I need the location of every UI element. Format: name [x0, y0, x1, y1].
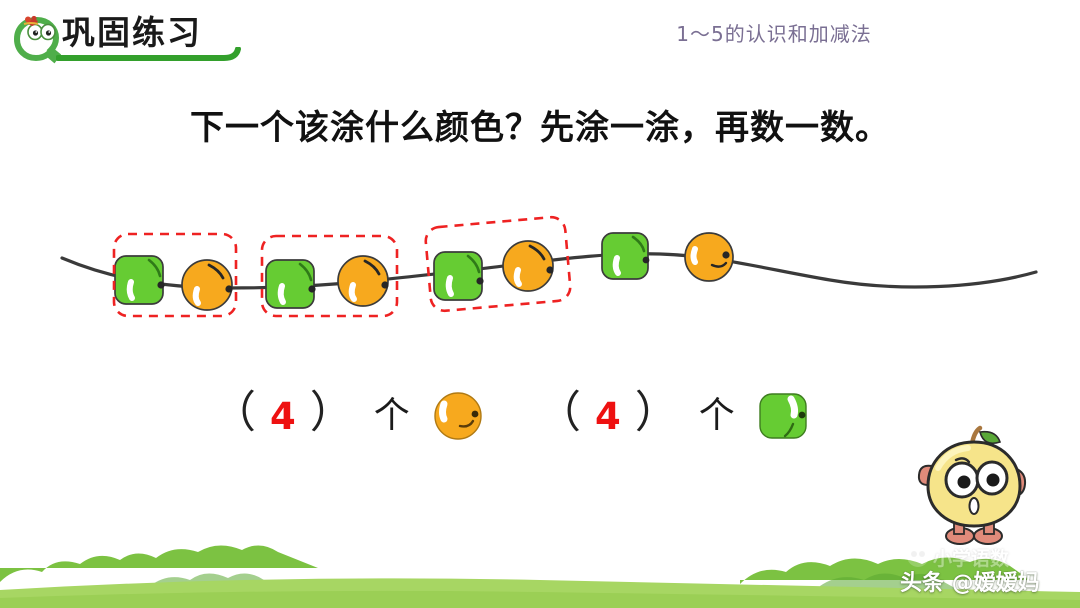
answer-bead-green-icon: [755, 388, 811, 444]
close-paren-0: ）: [310, 391, 354, 441]
bead-2-green: [266, 260, 316, 308]
open-paren-1: （: [537, 391, 581, 441]
answer-bead-orange-icon: [430, 388, 486, 444]
watermark-main-text: 头条 @嫒嫒妈: [900, 565, 1040, 597]
bead-5-orange: [503, 241, 554, 291]
slide-canvas: 巩固练习 1～5的认识和加减法 下一个该涂什么颜色？先涂一涂，再数一数。: [0, 0, 1080, 608]
close-paren-1: ）: [635, 391, 679, 441]
unit-label-0: 个: [374, 398, 410, 434]
bead-3-orange: [338, 256, 389, 306]
bead-1-orange: [182, 260, 233, 310]
answer-value-1[interactable]: 4: [595, 398, 621, 435]
answer-group-orange[interactable]: （ 4 ） 个: [212, 378, 486, 454]
bead-chain-area: [0, 200, 1080, 350]
answer-group-green[interactable]: （ 4 ） 个: [537, 378, 811, 454]
answer-value-0[interactable]: 4: [270, 398, 296, 435]
bead-0-green: [115, 256, 165, 304]
unit-label-1: 个: [699, 398, 735, 434]
bead-4-green: [434, 252, 484, 300]
question-text: 下一个该涂什么颜色？先涂一涂，再数一数。: [0, 100, 1080, 149]
apple-cartoon-character: [910, 424, 1038, 552]
bead-chain-svg: [0, 200, 1080, 350]
bead-7-orange: [685, 233, 733, 281]
slide-header: 巩固练习 1～5的认识和加减法: [0, 0, 1080, 72]
lesson-label: 1～5的认识和加减法: [234, 18, 1080, 47]
title-underline: [56, 47, 246, 65]
bead-6-green: [602, 233, 649, 279]
open-paren-0: （: [212, 391, 256, 441]
